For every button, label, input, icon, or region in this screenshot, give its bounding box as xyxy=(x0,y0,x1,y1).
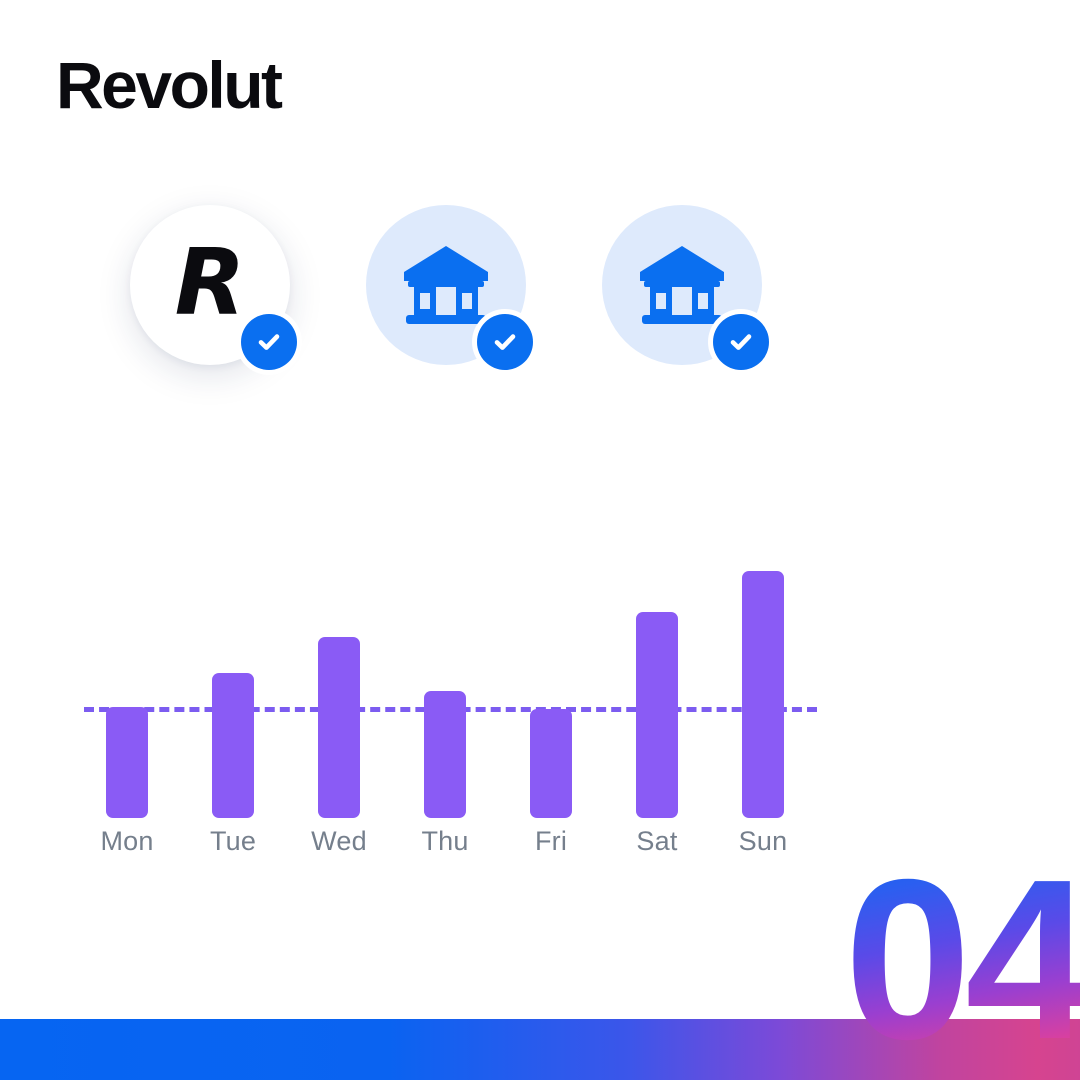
verified-accounts-row: R xyxy=(130,205,830,395)
check-badge-circle xyxy=(477,314,533,370)
check-badge-circle xyxy=(241,314,297,370)
revolut-r-glyph: R xyxy=(175,237,246,329)
chart-x-label: Mon xyxy=(74,826,180,857)
chart-bar[interactable] xyxy=(424,691,466,818)
chart-x-label: Sat xyxy=(604,826,710,857)
chart-x-label: Fri xyxy=(498,826,604,857)
chart-x-axis: MonTueWedThuFriSatSun xyxy=(84,826,824,874)
chart-plot-area xyxy=(84,548,824,820)
check-icon xyxy=(490,327,520,357)
chart-bar[interactable] xyxy=(212,673,254,818)
check-icon xyxy=(254,327,284,357)
chart-bars xyxy=(84,548,824,820)
chart-bar[interactable] xyxy=(530,709,572,818)
account-card-revolut[interactable]: R xyxy=(130,205,290,365)
bank-icon-svg xyxy=(400,243,492,327)
chart-bar[interactable] xyxy=(318,637,360,818)
brand-wordmark: Revolut xyxy=(56,52,281,118)
account-card-bank-2[interactable] xyxy=(602,205,762,365)
chart-bar[interactable] xyxy=(106,707,148,818)
account-card-bank-1[interactable] xyxy=(366,205,526,365)
chart-x-label: Thu xyxy=(392,826,498,857)
chart-x-label: Sun xyxy=(710,826,816,857)
check-badge-icon xyxy=(708,309,774,375)
page-number: 04 xyxy=(844,846,1080,1074)
chart-bar[interactable] xyxy=(742,571,784,818)
check-icon xyxy=(726,327,756,357)
bank-icon-svg xyxy=(636,243,728,327)
chart-x-label: Tue xyxy=(180,826,286,857)
check-badge-icon xyxy=(472,309,538,375)
chart-x-label: Wed xyxy=(286,826,392,857)
weekly-spend-chart: MonTueWedThuFriSatSun xyxy=(84,548,824,888)
check-badge-circle xyxy=(713,314,769,370)
check-badge-icon xyxy=(236,309,302,375)
chart-bar[interactable] xyxy=(636,612,678,818)
